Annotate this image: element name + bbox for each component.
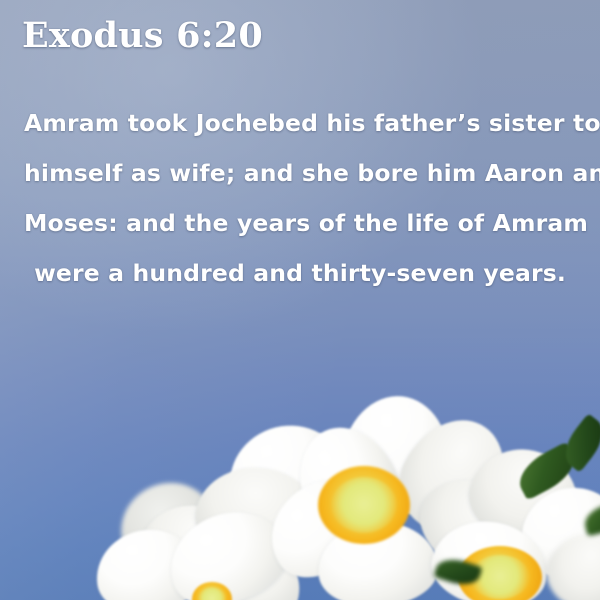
verse-reference-title: Exodus 6:20 — [22, 15, 263, 56]
verse-text-line: Moses: and the years of the life of Amra… — [24, 198, 576, 248]
verse-text-line: were a hundred and thirty-seven years. — [24, 248, 576, 298]
verse-text-line: Amram took Jochebed his father’s sister … — [24, 98, 576, 148]
verse-image-card: Exodus 6:20 Amram took Jochebed his fath… — [0, 0, 600, 600]
flower-cluster — [0, 410, 600, 600]
verse-text-line: himself as wife; and she bore him Aaron … — [24, 148, 576, 198]
flower-center — [318, 466, 410, 544]
verse-text-block: Amram took Jochebed his father’s sister … — [24, 98, 576, 298]
